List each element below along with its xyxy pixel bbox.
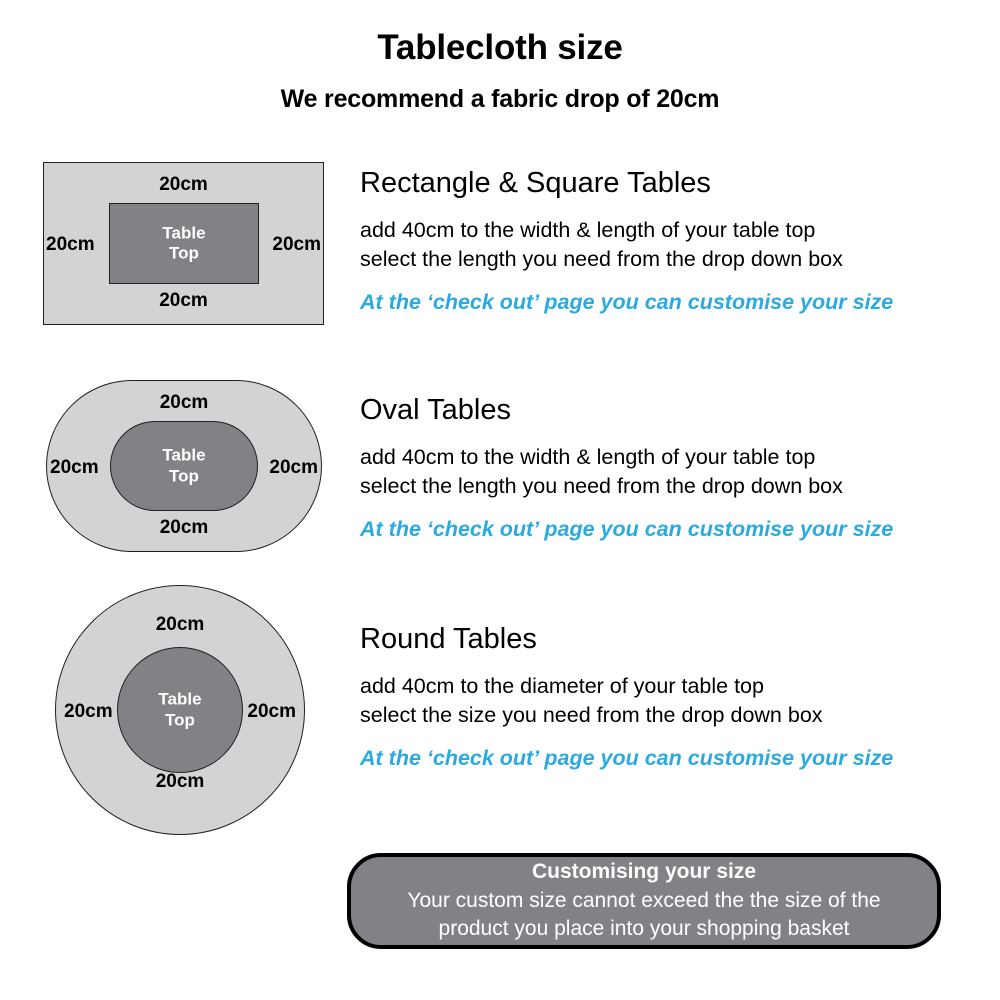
table-top-line1: Table: [162, 445, 205, 464]
oval-table-top-label: Table Top: [111, 445, 257, 486]
round-table-diagram: Table Top 20cm 20cm 20cm 20cm: [55, 585, 305, 835]
rectangle-table-top-label: Table Top: [110, 223, 258, 264]
oval-instruction-line-1: add 40cm to the width & length of your t…: [360, 443, 980, 472]
oval-drop-label-left: 20cm: [50, 458, 99, 477]
round-drop-label-top: 20cm: [55, 615, 305, 634]
oval-instruction-line-2: select the length you need from the drop…: [360, 472, 980, 501]
round-checkout-note: At the ‘check out’ page you can customis…: [360, 746, 980, 771]
oval-checkout-note: At the ‘check out’ page you can customis…: [360, 517, 980, 542]
round-table-top-label: Table Top: [118, 689, 242, 730]
page-subtitle: We recommend a fabric drop of 20cm: [0, 85, 1000, 114]
table-top-line1: Table: [162, 223, 205, 242]
rectangle-section-instructions: add 40cm to the width & length of your t…: [360, 216, 980, 273]
rectangle-instruction-line-1: add 40cm to the width & length of your t…: [360, 216, 980, 245]
callout-body-line-2: product you place into your shopping bas…: [407, 915, 880, 943]
oval-table-top: Table Top: [110, 421, 258, 511]
table-top-line1: Table: [158, 689, 201, 708]
rectangle-section-text: Rectangle & Square Tables add 40cm to th…: [360, 168, 980, 315]
round-instruction-line-2: select the size you need from the drop d…: [360, 701, 980, 730]
oval-drop-label-top: 20cm: [46, 393, 322, 412]
round-drop-label-left: 20cm: [64, 702, 113, 721]
callout-body-line-1: Your custom size cannot exceed the the s…: [407, 887, 880, 915]
rectangle-table-diagram: Table Top 20cm 20cm 20cm 20cm: [43, 162, 324, 325]
callout-body: Your custom size cannot exceed the the s…: [407, 887, 880, 943]
oval-drop-label-bottom: 20cm: [46, 518, 322, 537]
oval-drop-label-right: 20cm: [269, 458, 318, 477]
round-drop-label-right: 20cm: [247, 702, 296, 721]
callout-title: Customising your size: [532, 859, 756, 885]
rectangle-drop-label-bottom: 20cm: [43, 291, 324, 310]
round-instruction-line-1: add 40cm to the diameter of your table t…: [360, 672, 980, 701]
table-top-line2: Top: [165, 710, 195, 729]
oval-section-instructions: add 40cm to the width & length of your t…: [360, 443, 980, 500]
round-table-top: Table Top: [117, 647, 243, 773]
round-drop-label-bottom: 20cm: [55, 772, 305, 791]
rectangle-drop-label-left: 20cm: [46, 235, 95, 254]
table-top-line2: Top: [169, 466, 199, 485]
rectangle-instruction-line-2: select the length you need from the drop…: [360, 245, 980, 274]
table-top-line2: Top: [169, 244, 199, 263]
round-section-instructions: add 40cm to the diameter of your table t…: [360, 672, 980, 729]
rectangle-drop-label-right: 20cm: [272, 235, 321, 254]
page-title: Tablecloth size: [0, 28, 1000, 68]
rectangle-drop-label-top: 20cm: [43, 175, 324, 194]
round-section-heading: Round Tables: [360, 624, 980, 654]
oval-table-diagram: Table Top 20cm 20cm 20cm 20cm: [46, 380, 322, 552]
rectangle-table-top: Table Top: [109, 203, 259, 284]
rectangle-section-heading: Rectangle & Square Tables: [360, 168, 980, 198]
customising-your-size-callout: Customising your size Your custom size c…: [347, 853, 941, 949]
oval-section-text: Oval Tables add 40cm to the width & leng…: [360, 395, 980, 542]
round-section-text: Round Tables add 40cm to the diameter of…: [360, 624, 980, 771]
oval-section-heading: Oval Tables: [360, 395, 980, 425]
rectangle-checkout-note: At the ‘check out’ page you can customis…: [360, 290, 980, 315]
